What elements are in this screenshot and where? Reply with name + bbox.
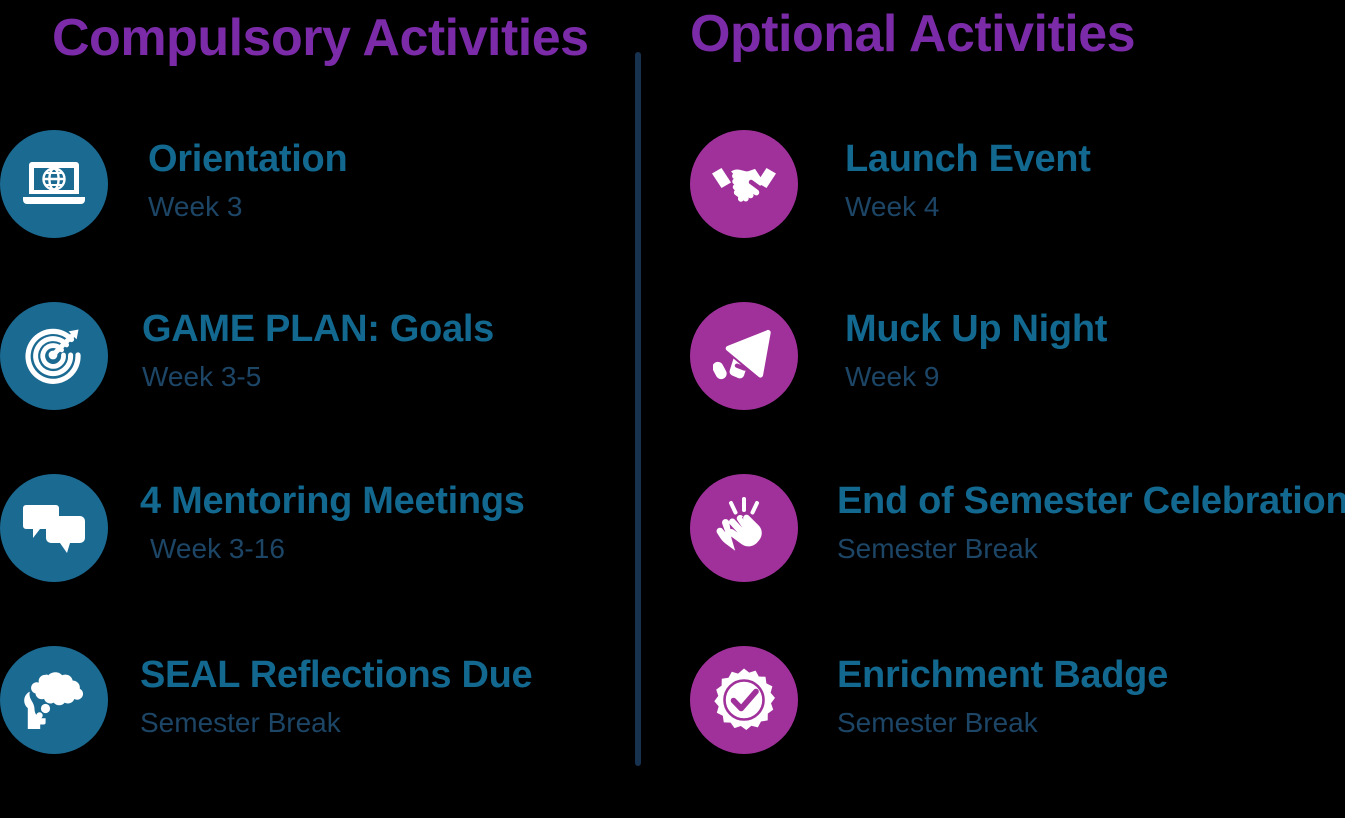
list-item-text: 4 Mentoring Meetings Week 3-16 (140, 480, 525, 565)
list-item-text: GAME PLAN: Goals Week 3-5 (142, 308, 494, 393)
list-item-subtitle: Week 9 (845, 360, 1107, 394)
list-item-title: 4 Mentoring Meetings (140, 480, 525, 524)
list-item[interactable]: 4 Mentoring Meetings Week 3-16 (0, 474, 640, 646)
speech-bubbles-icon-badge (0, 474, 108, 582)
list-item-text: End of Semester Celebration Semester Bre… (837, 480, 1345, 565)
list-item-text: Launch Event Week 4 (845, 138, 1091, 223)
optional-activities-heading: Optional Activities (690, 8, 1135, 60)
list-item[interactable]: Launch Event Week 4 (690, 130, 1330, 302)
list-item-text: Enrichment Badge Semester Break (837, 654, 1168, 739)
list-item-subtitle: Semester Break (837, 532, 1345, 566)
list-item-text: Muck Up Night Week 9 (845, 308, 1107, 393)
list-item-subtitle: Week 3 (148, 190, 347, 224)
clapping-hands-icon-badge (690, 474, 798, 582)
list-item-subtitle: Semester Break (837, 706, 1168, 740)
list-item-title: End of Semester Celebration (837, 480, 1345, 524)
list-item-title: Muck Up Night (845, 308, 1107, 352)
list-item-title: Orientation (148, 138, 347, 182)
optional-activities-column: Launch Event Week 4 Muck Up Night Week 9 (690, 130, 1330, 818)
handshake-icon (711, 161, 777, 207)
list-item[interactable]: Orientation Week 3 (0, 130, 640, 302)
list-item[interactable]: Enrichment Badge Semester Break (690, 646, 1330, 818)
list-item[interactable]: End of Semester Celebration Semester Bre… (690, 474, 1330, 646)
handshake-icon-badge (690, 130, 798, 238)
list-item-title: Enrichment Badge (837, 654, 1168, 698)
compulsory-activities-heading: Compulsory Activities (52, 12, 589, 64)
list-item-title: Launch Event (845, 138, 1091, 182)
badge-check-icon-badge (690, 646, 798, 754)
target-arrow-icon-badge (0, 302, 108, 410)
badge-check-icon (712, 668, 776, 732)
list-item-text: Orientation Week 3 (148, 138, 347, 223)
thought-bubble-head-icon-badge (0, 646, 108, 754)
clapping-hands-icon (714, 497, 774, 559)
list-item-text: SEAL Reflections Due Semester Break (140, 654, 532, 739)
list-item[interactable]: SEAL Reflections Due Semester Break (0, 646, 640, 818)
list-item-subtitle: Week 3-16 (150, 532, 525, 566)
activities-infographic: Compulsory Activities Optional Activitie… (0, 0, 1345, 776)
speech-bubbles-icon (23, 502, 85, 554)
list-item-subtitle: Week 4 (845, 190, 1091, 224)
list-item-title: GAME PLAN: Goals (142, 308, 494, 352)
megaphone-icon-badge (690, 302, 798, 410)
target-arrow-icon (24, 326, 84, 386)
laptop-globe-icon-badge (0, 130, 108, 238)
list-item-subtitle: Semester Break (140, 706, 532, 740)
laptop-globe-icon (23, 160, 85, 208)
list-item-subtitle: Week 3-5 (142, 360, 494, 394)
list-item[interactable]: Muck Up Night Week 9 (690, 302, 1330, 474)
list-item[interactable]: GAME PLAN: Goals Week 3-5 (0, 302, 640, 474)
list-item-title: SEAL Reflections Due (140, 654, 532, 698)
thought-bubble-head-icon (22, 671, 86, 729)
megaphone-icon (713, 328, 775, 384)
compulsory-activities-column: Orientation Week 3 (0, 130, 640, 818)
